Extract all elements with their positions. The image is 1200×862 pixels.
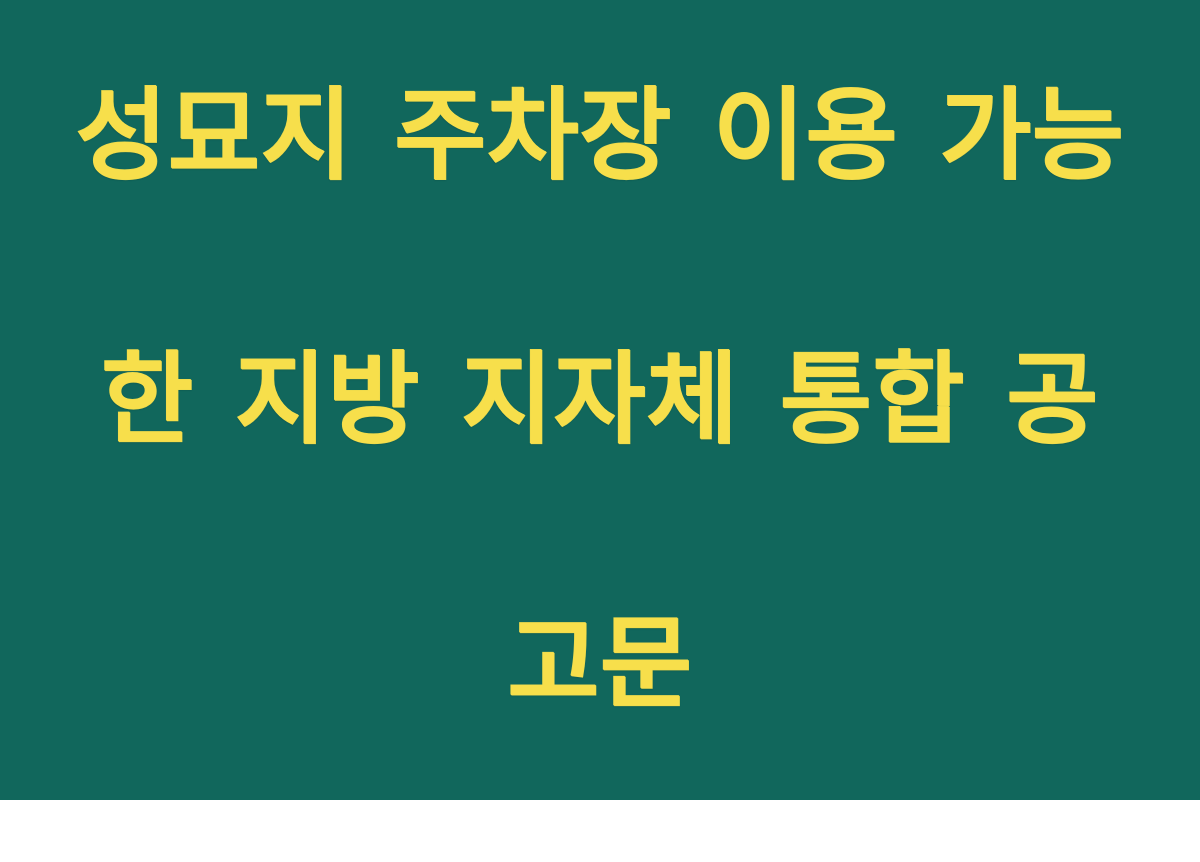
headline-line-1: 성묘지 주차장 이용 가능 [70, 70, 1130, 202]
page-title: 성묘지 주차장 이용 가능 한 지방 지자체 통합 공 고문 [70, 0, 1130, 862]
banner-canvas: 성묘지 주차장 이용 가능 한 지방 지자체 통합 공 고문 [0, 0, 1200, 800]
headline-line-3: 고문 [70, 598, 1130, 730]
headline-line-2: 한 지방 지자체 통합 공 [70, 334, 1130, 466]
